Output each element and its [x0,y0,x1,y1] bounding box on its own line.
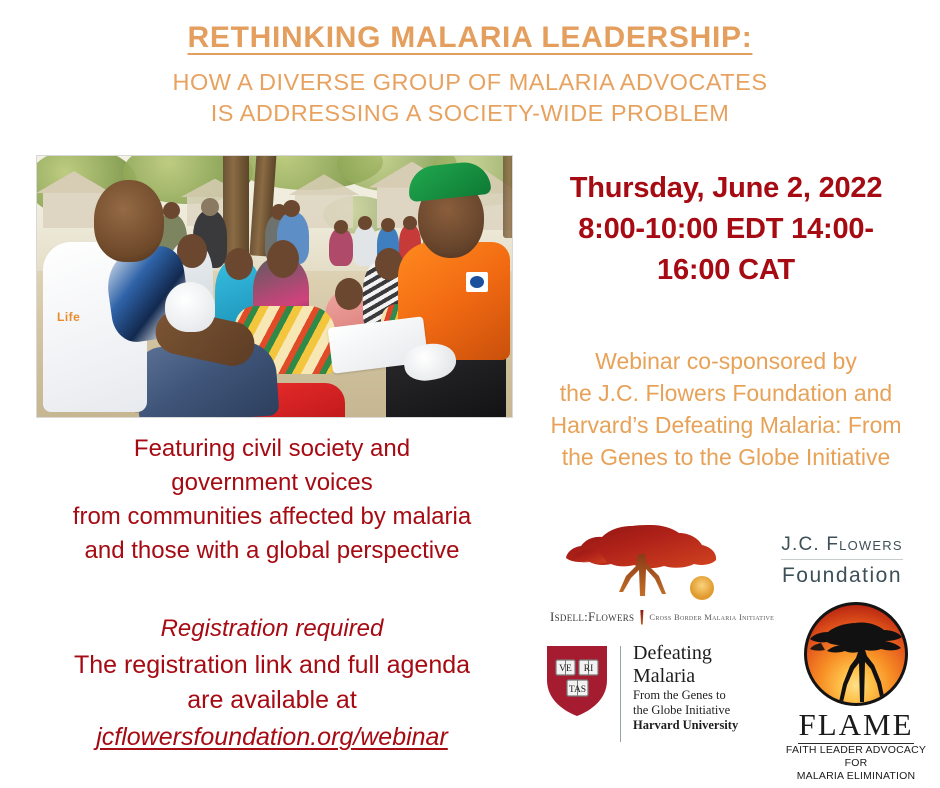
photo-crowd-person [358,216,372,230]
subtitle-line-2: IS ADDRESSING A SOCIETY-WIDE PROBLEM [0,98,940,129]
photo-foreground-man-head [94,180,164,262]
flame-logo: FLAME FAITH LEADER ADVOCACY FOR MALARIA … [780,602,932,783]
harvard-defeating-malaria-logo: VE RI TAS Defeating Malaria From the Gen… [544,642,774,748]
registration-line-1: The registration link and full agenda [16,648,528,683]
vest-brand-text: Life [57,310,80,324]
flame-sunset-icon [804,602,908,706]
photo-mid-person [267,240,299,278]
shield-motto-ve: VE [559,664,572,674]
harvard-sub-line-1: From the Genes to [633,688,738,703]
shield-motto-ri: RI [584,664,594,674]
photo-crowd-person [201,198,219,216]
sponsor-line-1: Webinar co-sponsored by [520,345,932,377]
photo-crowd-person [163,202,180,219]
sponsor-line-2: the J.C. Flowers Foundation and [520,377,932,409]
photo-mid-person [225,248,253,280]
registration-link[interactable]: jcflowersfoundation.org/webinar [96,718,448,756]
photo-scene: Life [37,156,512,417]
isdell-divider-icon [638,610,645,625]
featuring-line-1: Featuring civil society and [16,432,528,466]
sponsor-line-3: Harvard’s Defeating Malaria: From [520,409,932,441]
page-subtitle: HOW A DIVERSE GROUP OF MALARIA ADVOCATES… [0,67,940,129]
subtitle-line-1: HOW A DIVERSE GROUP OF MALARIA ADVOCATES [0,67,940,98]
isdell-name: Isdell:Flowers [550,609,634,625]
photo-crowd-person [381,218,395,232]
isdell-wordmark: Isdell:Flowers Cross Border Malaria Init… [550,609,774,625]
event-time-line-1: 8:00-10:00 EDT 14:00- [520,209,932,250]
page-title: RETHINKING MALARIA LEADERSHIP: [188,18,753,58]
harvard-divider [620,646,621,742]
flame-tagline-2: MALARIA ELIMINATION [780,770,932,783]
sponsor-line-4: the Genes to the Globe Initiative [520,441,932,473]
sponsor-text: Webinar co-sponsored by the J.C. Flowers… [520,345,932,473]
jc-flowers-foundation-logo: J.C. Flowers Foundation [752,534,932,588]
event-datetime: Thursday, June 2, 2022 8:00-10:00 EDT 14… [520,168,932,291]
acacia-tree-icon [560,522,736,608]
shield-motto-tas: TAS [569,685,586,695]
webinar-poster: RETHINKING MALARIA LEADERSHIP: HOW A DIV… [0,0,940,788]
photo-crowd-person [403,216,417,230]
registration-line-2: are available at [16,683,528,718]
isdell-tagline: Cross Border Malaria Initiative [649,612,774,622]
harvard-sub-line-3: Harvard University [633,718,738,733]
featuring-text: Featuring civil society and government v… [16,432,528,568]
harvard-sub-line-2: the Globe Initiative [633,703,738,718]
event-photo: Life [36,155,513,418]
isdell-flowers-logo: Isdell:Flowers Cross Border Malaria Init… [544,522,762,627]
jcf-line-2: Foundation [752,564,932,588]
harvard-title-line-2: Malaria [633,665,738,688]
registration-required-note: Registration required [16,610,528,648]
event-date: Thursday, June 2, 2022 [520,168,932,209]
harvard-text-block: Defeating Malaria From the Genes to the … [633,642,738,733]
harvard-title-line-1: Defeating [633,642,738,665]
jcf-line-1: J.C. Flowers [781,534,902,560]
featuring-line-2: government voices [16,466,528,500]
photo-foreground-woman-badge [466,272,488,292]
flame-tagline-1: FAITH LEADER ADVOCACY FOR [780,744,932,770]
photo-crowd-person [353,224,377,266]
photo-crowd-person [334,220,348,234]
photo-tree-trunk [503,156,512,238]
event-time-line-2: 16:00 CAT [520,250,932,291]
photo-foreground-man-glove [165,282,215,332]
photo-crowd-person [283,200,300,217]
photo-mid-person [335,278,363,310]
flame-wordmark: FLAME [798,708,913,744]
harvard-shield-icon: VE RI TAS [544,642,610,723]
featuring-line-4: and those with a global perspective [16,534,528,568]
flame-acacia-tree-icon [807,605,905,703]
featuring-line-3: from communities affected by malaria [16,500,528,534]
logo-row: Isdell:Flowers Cross Border Malaria Init… [536,520,936,778]
registration-text: Registration required The registration l… [16,610,528,756]
poster-header: RETHINKING MALARIA LEADERSHIP: HOW A DIV… [0,18,940,129]
